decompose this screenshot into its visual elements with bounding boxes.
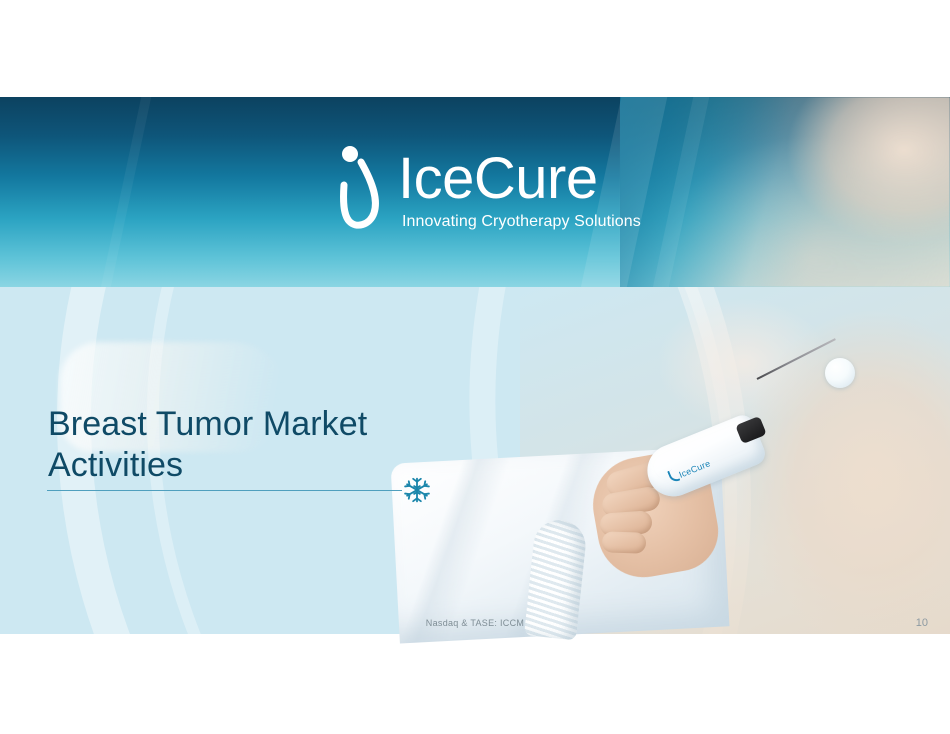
clinician-finger xyxy=(602,531,647,554)
footer-ticker-note: Nasdaq & TASE: ICCM xyxy=(0,618,950,628)
logo-wordmark: IceCure xyxy=(398,150,598,208)
presentation-slide: IceCure Innovating Cryotherapy Solutions… xyxy=(0,0,950,734)
title-underline-rule xyxy=(47,490,402,491)
snowflake-icon xyxy=(403,476,431,504)
icecure-i-mark-icon xyxy=(338,145,390,237)
page-title-line-1: Breast Tumor Market xyxy=(48,404,468,445)
slide-header-banner: IceCure Innovating Cryotherapy Solutions xyxy=(0,97,950,287)
logo-tagline: Innovating Cryotherapy Solutions xyxy=(402,213,641,231)
page-title: Breast Tumor Market Activities xyxy=(48,404,468,486)
page-number: 10 xyxy=(916,617,928,629)
cryoablation-iceball xyxy=(825,358,855,388)
icecure-logo: IceCure Innovating Cryotherapy Solutions xyxy=(338,143,628,238)
